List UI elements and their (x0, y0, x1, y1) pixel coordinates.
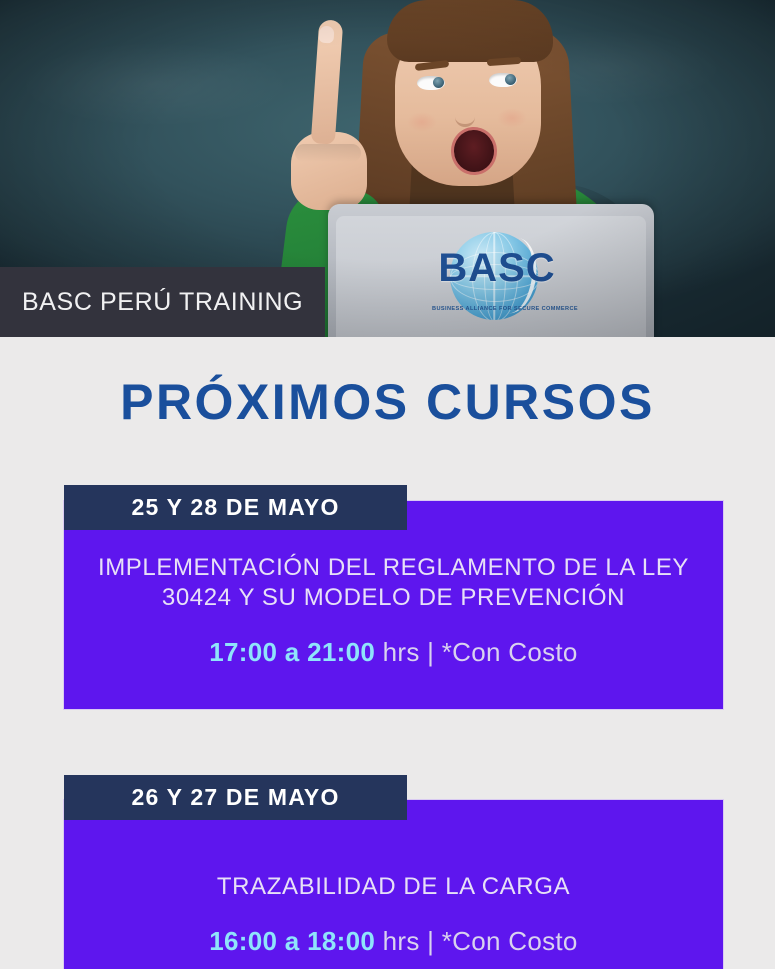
page-title: PRÓXIMOS CURSOS (0, 373, 775, 431)
poster: BASC BUSINESS ALLIANCE FOR SECURE COMMER… (0, 0, 775, 969)
course-title: TRAZABILIDAD DE LA CARGA (64, 872, 723, 902)
course-card-body: IMPLEMENTACIÓN DEL REGLAMENTO DE LA LEY … (64, 553, 723, 668)
course-time-line: 16:00 a 18:00 hrs | *Con Costo (64, 926, 723, 957)
course-title: IMPLEMENTACIÓN DEL REGLAMENTO DE LA LEY … (64, 553, 723, 613)
hero-label-text: BASC PERÚ TRAINING (0, 288, 303, 317)
hero-photo: BASC BUSINESS ALLIANCE FOR SECURE COMMER… (0, 0, 775, 337)
course-date: 26 Y 27 DE MAYO (131, 784, 339, 811)
course-card-body: TRAZABILIDAD DE LA CARGA 16:00 a 18:00 h… (64, 872, 723, 957)
course-time: 17:00 a 21:00 (209, 637, 375, 667)
course-time-suffix: hrs | *Con Costo (375, 926, 578, 956)
course-card: TRAZABILIDAD DE LA CARGA 16:00 a 18:00 h… (64, 800, 723, 969)
course-date-banner: 25 Y 28 DE MAYO (64, 485, 407, 530)
hero-label-bar: BASC PERÚ TRAINING (0, 267, 325, 337)
main-content: PRÓXIMOS CURSOS IMPLEMENTACIÓN DEL REGLA… (0, 337, 775, 969)
course-date-banner: 26 Y 27 DE MAYO (64, 775, 407, 820)
course-time: 16:00 a 18:00 (209, 926, 375, 956)
course-card: IMPLEMENTACIÓN DEL REGLAMENTO DE LA LEY … (64, 501, 723, 709)
course-date: 25 Y 28 DE MAYO (131, 494, 339, 521)
course-time-suffix: hrs | *Con Costo (375, 637, 578, 667)
course-time-line: 17:00 a 21:00 hrs | *Con Costo (64, 637, 723, 668)
